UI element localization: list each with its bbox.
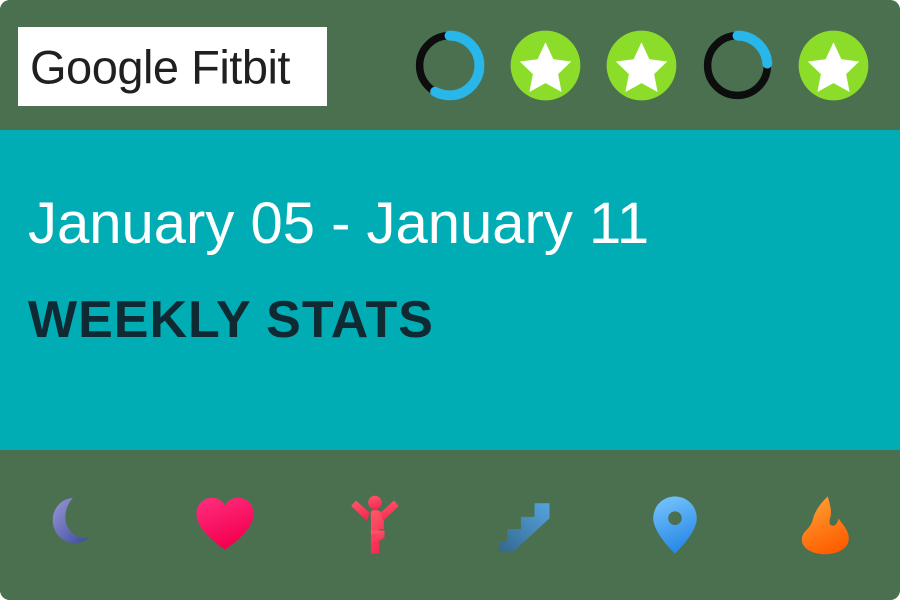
brand-logo-text: Google Fitbit [30, 39, 290, 94]
metric-icon-row [0, 450, 900, 600]
page-title: WEEKLY STATS [28, 290, 434, 350]
date-range-label: January 05 - January 11 [28, 190, 649, 257]
yoga-icon [341, 491, 409, 559]
flame-icon [791, 491, 859, 559]
heart-icon [191, 491, 259, 559]
stairs-icon [491, 491, 559, 559]
header-band: Google Fitbit [0, 0, 900, 130]
star-badge-1[interactable] [504, 24, 587, 107]
progress-ring-badge-2[interactable] [696, 24, 779, 107]
metric-exercise[interactable] [300, 450, 450, 600]
metric-distance[interactable] [600, 450, 750, 600]
metric-floors[interactable] [450, 450, 600, 600]
metric-heart-rate[interactable] [150, 450, 300, 600]
progress-ring-badge-1[interactable] [408, 24, 491, 107]
star-badge-3[interactable] [792, 24, 875, 107]
badge-row [408, 18, 888, 113]
location-icon [641, 491, 709, 559]
moon-icon [41, 491, 109, 559]
summary-banner: January 05 - January 11 WEEKLY STATS [0, 130, 900, 450]
weekly-stats-card: Google Fitbit [0, 0, 900, 600]
metric-sleep[interactable] [0, 450, 150, 600]
star-badge-2[interactable] [600, 24, 683, 107]
metric-calories[interactable] [750, 450, 900, 600]
metrics-band [0, 450, 900, 600]
brand-logo: Google Fitbit [18, 27, 327, 106]
